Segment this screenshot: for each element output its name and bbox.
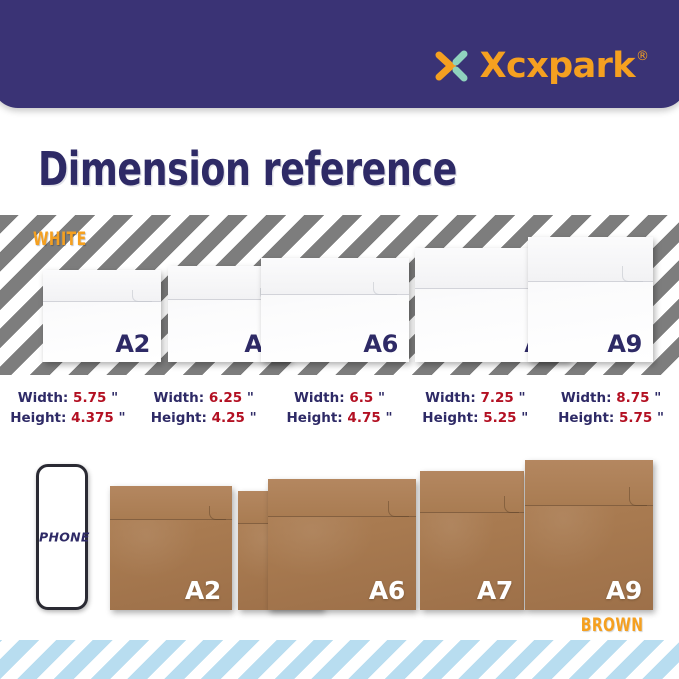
height-unit: " (250, 410, 257, 426)
dimension-col-a6: Width: 6.5 " Height: 4.75 " (272, 389, 408, 428)
width-label: Width: (18, 390, 69, 406)
height-unit: " (119, 410, 126, 426)
title-section: Dimension reference (0, 122, 679, 215)
white-envelopes-section: WHITE A2 A4 A6 A7 A9 (0, 215, 679, 375)
width-value: 6.25 (209, 390, 242, 406)
envelope-brown-a7: A7 (420, 471, 524, 610)
registered-trademark-icon: ® (636, 50, 649, 63)
white-section-label: WHITE (33, 228, 87, 250)
x-mark-icon (431, 46, 471, 86)
brand-lockup: Xcxpark ® (431, 46, 649, 86)
envelope-flap (110, 486, 232, 520)
envelope-size-label: A7 (477, 576, 513, 605)
envelope-brown-a6: A6 (268, 479, 416, 610)
width-label: Width: (153, 390, 204, 406)
envelope-flap (261, 258, 409, 295)
height-value: 5.75 (619, 410, 652, 426)
height-label: Height: (10, 410, 66, 426)
height-label: Height: (422, 410, 478, 426)
width-value: 8.75 (616, 390, 649, 406)
envelope-flap (528, 237, 653, 282)
height-label: Height: (151, 410, 207, 426)
height-line: Height: 4.375 " (0, 409, 136, 429)
height-line: Height: 5.25 " (407, 409, 543, 429)
width-line: Width: 8.75 " (543, 389, 679, 409)
width-line: Width: 6.5 " (272, 389, 408, 409)
dimension-col-a2: Width: 5.75 " Height: 4.375 " (0, 389, 136, 428)
height-label: Height: (558, 410, 614, 426)
height-unit: " (657, 410, 664, 426)
height-line: Height: 4.75 " (272, 409, 408, 429)
header-banner: Xcxpark ® (0, 0, 679, 108)
bottom-stripe-band (0, 640, 679, 679)
envelope-size-label: A2 (115, 330, 150, 358)
brand-name-wrap: Xcxpark ® (480, 49, 649, 84)
height-value: 5.25 (483, 410, 516, 426)
width-line: Width: 5.75 " (0, 389, 136, 409)
width-value: 6.5 (349, 390, 373, 406)
height-value: 4.375 (71, 410, 114, 426)
width-unit: " (378, 390, 385, 406)
width-label: Width: (561, 390, 612, 406)
brand-name: Xcxpark (480, 49, 635, 84)
height-label: Height: (287, 410, 343, 426)
width-unit: " (654, 390, 661, 406)
height-line: Height: 5.75 " (543, 409, 679, 429)
dimension-col-a4: Width: 6.25 " Height: 4.25 " (136, 389, 272, 428)
brown-section-label: BROWN (580, 614, 643, 636)
envelope-white-a9: A9 (528, 237, 653, 362)
envelope-brown-a2: A2 (110, 486, 232, 610)
width-value: 7.25 (480, 390, 513, 406)
envelope-flap (268, 479, 416, 517)
envelope-flap (43, 270, 161, 302)
dimension-col-a9: Width: 8.75 " Height: 5.75 " (543, 389, 679, 428)
envelope-white-a6: A6 (261, 258, 409, 362)
envelope-white-a2: A2 (43, 270, 161, 362)
height-unit: " (521, 410, 528, 426)
width-label: Width: (425, 390, 476, 406)
envelope-flap (525, 460, 653, 506)
width-unit: " (111, 390, 118, 406)
dimension-col-a7: Width: 7.25 " Height: 5.25 " (407, 389, 543, 428)
height-line: Height: 4.25 " (136, 409, 272, 429)
envelope-brown-a9: A9 (525, 460, 653, 610)
envelope-size-label: A2 (185, 576, 221, 605)
height-value: 4.25 (212, 410, 245, 426)
envelope-size-label: A9 (607, 330, 642, 358)
page-title: Dimension reference (38, 142, 457, 196)
brown-envelopes-section: PHONE A2 A4 A6 A7 A9 BROWN (0, 451, 679, 631)
phone-label: PHONE (39, 530, 85, 545)
dimensions-row: Width: 5.75 " Height: 4.375 " Width: 6.2… (0, 383, 679, 451)
width-unit: " (247, 390, 254, 406)
envelope-flap (420, 471, 524, 513)
height-unit: " (385, 410, 392, 426)
width-line: Width: 6.25 " (136, 389, 272, 409)
width-value: 5.75 (73, 390, 106, 406)
width-label: Width: (294, 390, 345, 406)
envelope-size-label: A9 (606, 576, 642, 605)
envelope-size-label: A6 (369, 576, 405, 605)
width-line: Width: 7.25 " (407, 389, 543, 409)
phone-reference: PHONE (36, 464, 88, 610)
width-unit: " (518, 390, 525, 406)
height-value: 4.75 (347, 410, 380, 426)
envelope-size-label: A6 (363, 330, 398, 358)
